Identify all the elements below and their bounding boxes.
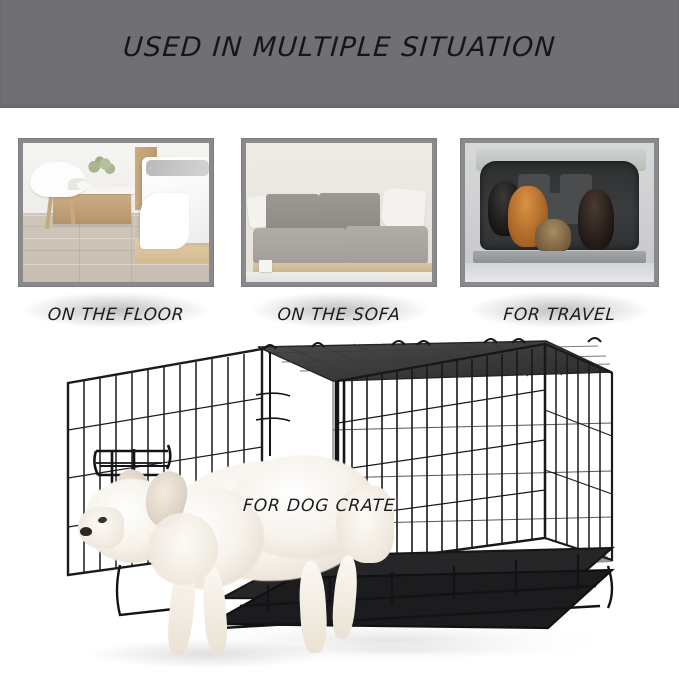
hero-caption-for-dog-crate: FOR DOG CRATE: [242, 496, 396, 516]
dog-nose: [80, 527, 92, 536]
dog-neck-ruff: [148, 513, 218, 585]
crate-right-side-panel: [545, 344, 612, 560]
chihuahua-dog: [78, 455, 388, 670]
dog-hind-leg: [298, 560, 329, 653]
crate-top-panel: [258, 338, 612, 381]
dog-hind-leg-2: [330, 554, 359, 640]
